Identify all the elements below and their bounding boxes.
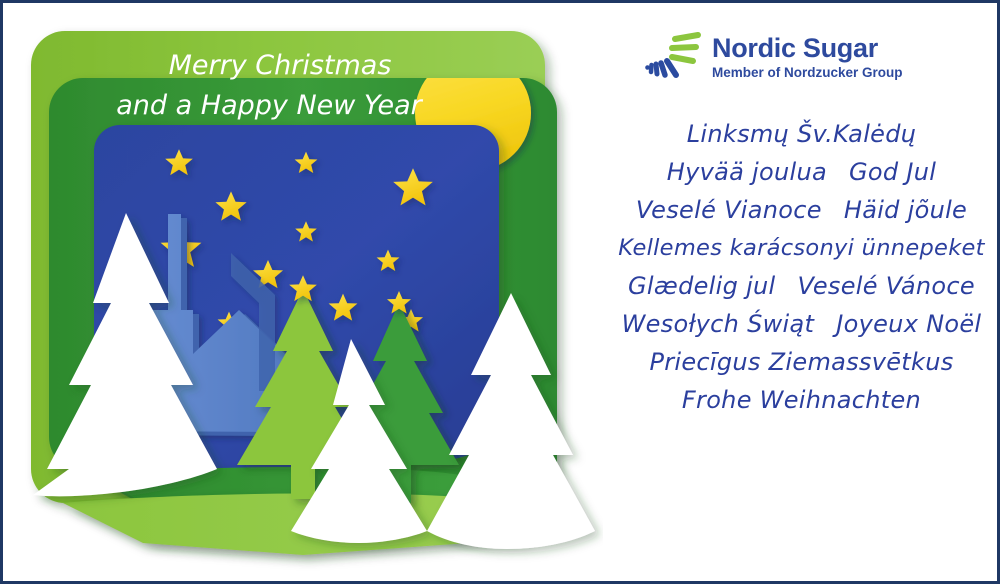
greeting-line: Priecīgus Ziemassvētkus xyxy=(603,343,1000,381)
logo-title: Nordic Sugar xyxy=(712,34,903,62)
greeting-line: Kellemes karácsonyi ünnepeket xyxy=(603,229,1000,267)
greeting-text: Frohe Weihnachten xyxy=(682,386,921,414)
greeting-line: Frohe Weihnachten xyxy=(603,381,1000,419)
nordic-sugar-logo: Nordic Sugar Member of Nordzucker Group xyxy=(645,31,903,82)
greeting-text: Hyvää joulua xyxy=(667,158,827,186)
greeting-text: Linksmų Šv.Kalėdų xyxy=(687,120,917,148)
greeting-text: Glædelig jul xyxy=(628,272,776,300)
logo-wordmark: Nordic Sugar Member of Nordzucker Group xyxy=(712,31,903,82)
multilingual-greetings-list: Linksmų Šv.Kalėdų Hyvää jouluaGod Jul Ve… xyxy=(603,115,1000,419)
right-panel: Nordic Sugar Member of Nordzucker Group … xyxy=(603,3,1000,584)
logo-subtitle: Member of Nordzucker Group xyxy=(712,65,903,81)
greeting-line: Hyvää jouluaGod Jul xyxy=(603,153,1000,191)
greeting-line: Glædelig julVeselé Vánoce xyxy=(603,267,1000,305)
christmas-greeting-card: Merry Christmas and a Happy New Year xyxy=(0,0,1000,584)
greeting-line: Veselé VianoceHäid jõule xyxy=(603,191,1000,229)
greeting-text: God Jul xyxy=(849,158,936,186)
greeting-text: Wesołych Świąt xyxy=(622,310,815,338)
greeting-text: Veselé Vianoce xyxy=(636,196,822,224)
greeting-text: Veselé Vánoce xyxy=(798,272,975,300)
nordic-sugar-burst-logo-icon xyxy=(645,31,703,81)
greeting-line: Wesołych ŚwiątJoyeux Noël xyxy=(603,305,1000,343)
greeting-text: Priecīgus Ziemassvētkus xyxy=(649,348,953,376)
greeting-text: Kellemes karácsonyi ünnepeket xyxy=(618,235,985,261)
greeting-line: Linksmų Šv.Kalėdų xyxy=(603,115,1000,153)
card-greeting-line-1: Merry Christmas xyxy=(169,50,392,81)
greeting-text: Joyeux Noël xyxy=(836,310,981,338)
card-greeting-line-2: and a Happy New Year xyxy=(116,90,423,121)
illustration-paper-cut-scene: Merry Christmas and a Happy New Year xyxy=(3,3,603,584)
greeting-text: Häid jõule xyxy=(844,196,967,224)
